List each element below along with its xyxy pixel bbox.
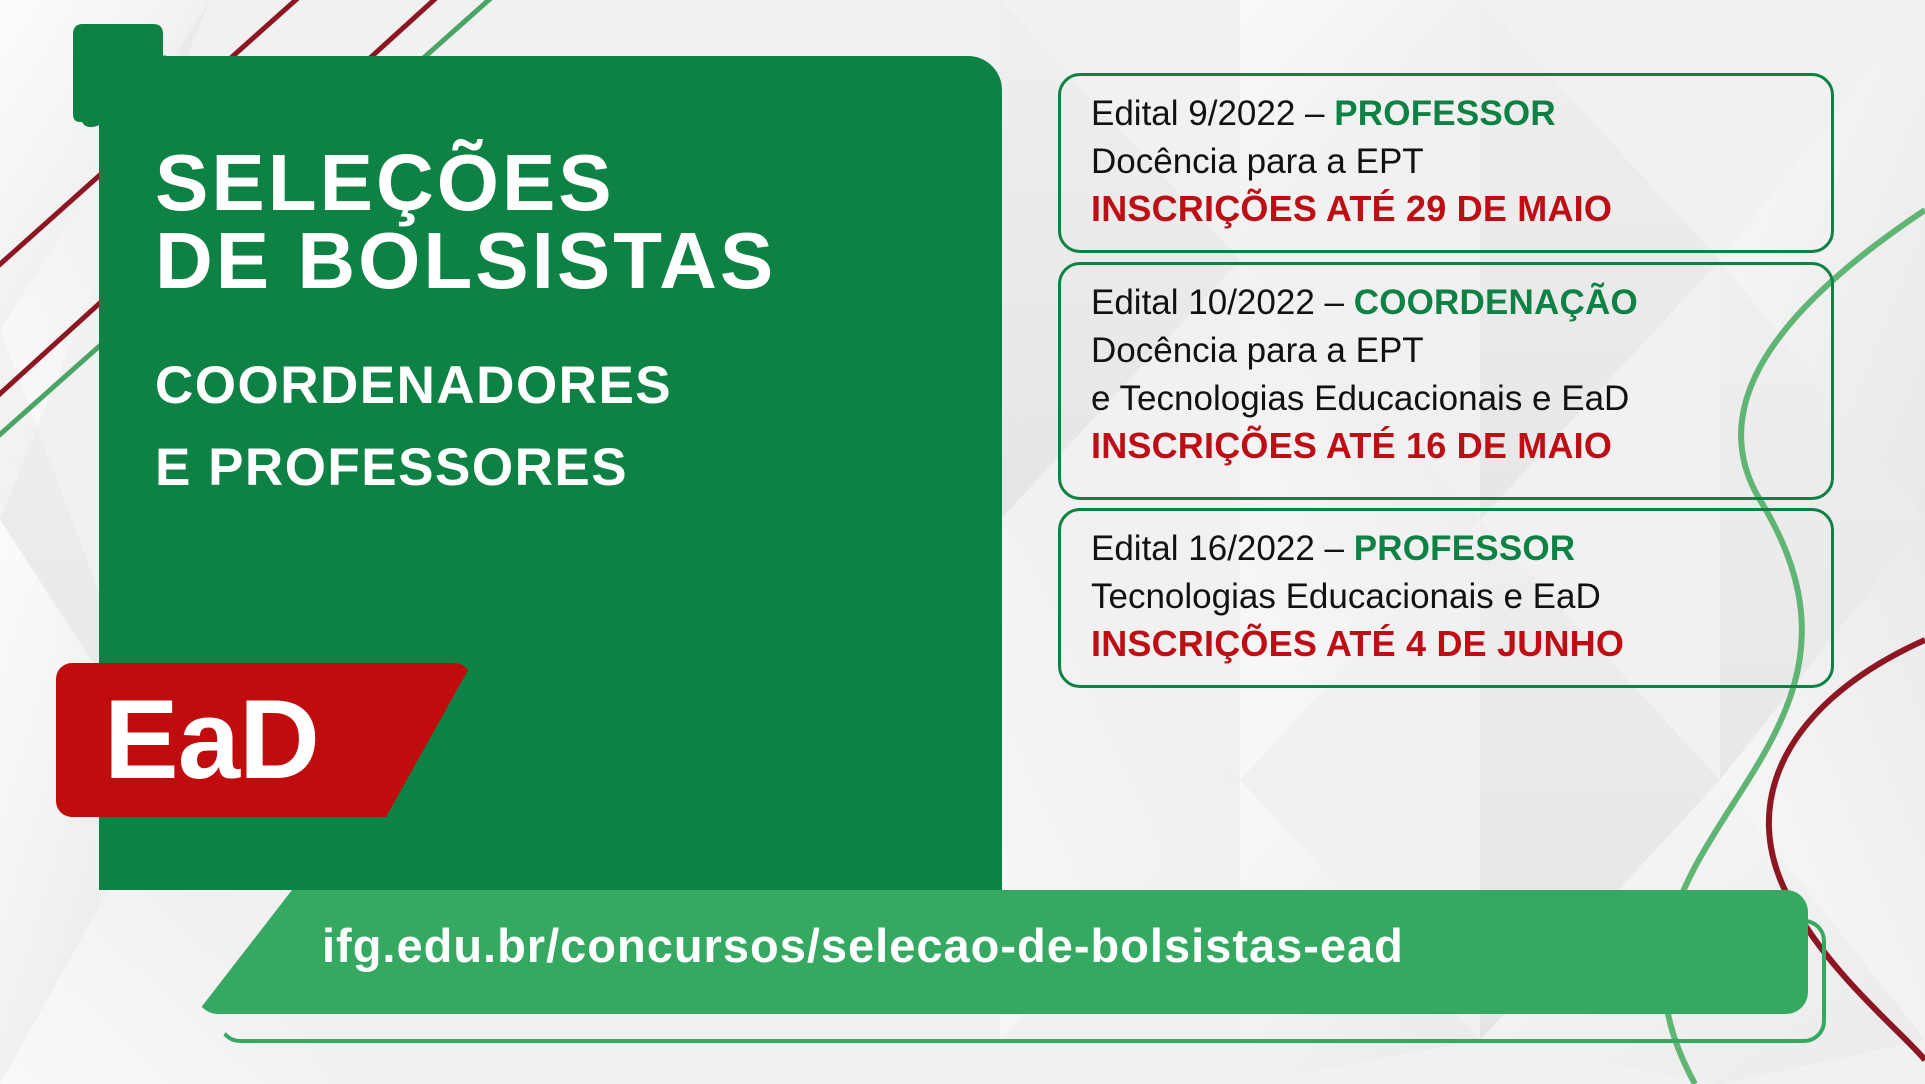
poster-canvas: SELEÇÕES DE BOLSISTAS COORDENADORES E PR… bbox=[0, 0, 1925, 1084]
edital-heading: Edital 16/2022 – PROFESSOR bbox=[1091, 525, 1803, 573]
url-bar[interactable]: ifg.edu.br/concursos/selecao-de-bolsista… bbox=[196, 890, 1808, 1014]
edital-number: Edital 16/2022 – bbox=[1091, 529, 1354, 568]
edital-description-line: Docência para a EPT bbox=[1091, 138, 1803, 186]
edital-heading: Edital 9/2022 – PROFESSOR bbox=[1091, 90, 1803, 138]
page-subtitle: COORDENADORES E PROFESSORES bbox=[155, 345, 985, 509]
edital-description-line: Docência para a EPT bbox=[1091, 327, 1803, 375]
edital-deadline: INSCRIÇÕES ATÉ 16 DE MAIO bbox=[1091, 423, 1803, 470]
edital-deadline: INSCRIÇÕES ATÉ 29 DE MAIO bbox=[1091, 186, 1803, 233]
url-text: ifg.edu.br/concursos/selecao-de-bolsista… bbox=[322, 918, 1404, 973]
edital-role: PROFESSOR bbox=[1354, 529, 1576, 568]
edital-heading: Edital 10/2022 – COORDENAÇÃO bbox=[1091, 279, 1803, 327]
edital-card[interactable]: Edital 9/2022 – PROFESSOR Docência para … bbox=[1058, 73, 1834, 253]
edital-description-line: e Tecnologias Educacionais e EaD bbox=[1091, 375, 1803, 423]
edital-number: Edital 10/2022 – bbox=[1091, 283, 1354, 322]
hero-title-block: SELEÇÕES DE BOLSISTAS COORDENADORES E PR… bbox=[155, 144, 985, 509]
ead-badge-label: EaD bbox=[104, 681, 319, 799]
edital-card[interactable]: Edital 16/2022 – PROFESSOR Tecnologias E… bbox=[1058, 508, 1834, 688]
page-title: SELEÇÕES DE BOLSISTAS bbox=[155, 144, 985, 299]
edital-card[interactable]: Edital 10/2022 – COORDENAÇÃO Docência pa… bbox=[1058, 262, 1834, 500]
edital-number: Edital 9/2022 – bbox=[1091, 94, 1334, 133]
edital-role: PROFESSOR bbox=[1334, 94, 1556, 133]
edital-role: COORDENAÇÃO bbox=[1354, 283, 1638, 322]
edital-deadline: INSCRIÇÕES ATÉ 4 DE JUNHO bbox=[1091, 621, 1803, 668]
edital-description-line: Tecnologias Educacionais e EaD bbox=[1091, 573, 1803, 621]
